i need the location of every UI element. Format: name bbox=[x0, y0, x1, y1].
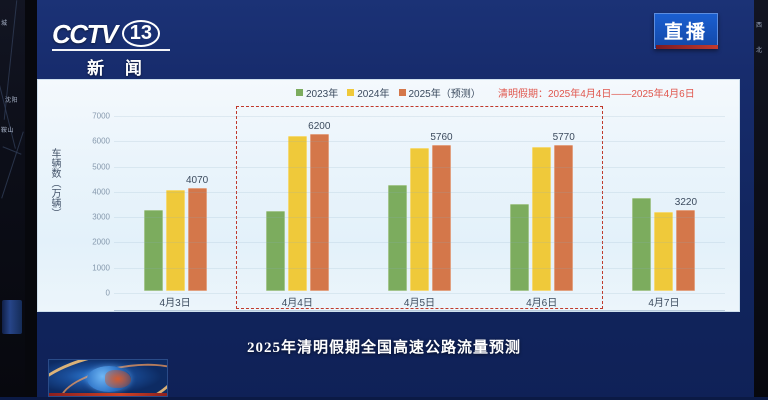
broadcast-screen: 城 沈阳 鞍山 西 北 CCTV 13 新 闻 直播 2023年2024年202… bbox=[0, 0, 768, 400]
bar-4月4日-2023年[interactable] bbox=[266, 211, 285, 291]
bar-group-bars bbox=[358, 108, 480, 291]
bar-4月7日-2023年[interactable] bbox=[632, 198, 651, 291]
bar-4月3日-2025年（预测）[interactable] bbox=[188, 188, 207, 291]
x-axis-tick-label: 4月7日 bbox=[603, 294, 725, 309]
bar-group-4月3日: 4月3日 bbox=[114, 108, 236, 311]
bar-4月3日-2024年[interactable] bbox=[166, 190, 185, 291]
gridline bbox=[114, 242, 725, 243]
bar-4月5日-2023年[interactable] bbox=[388, 185, 407, 291]
gridline bbox=[114, 217, 725, 218]
map-label: 沈阳 bbox=[5, 95, 18, 104]
map-label-right: 西 bbox=[756, 20, 763, 29]
y-axis-tick-label: 4000 bbox=[82, 187, 110, 196]
bar-group-4月6日: 4月6日 bbox=[481, 108, 603, 311]
gridline bbox=[114, 268, 725, 269]
bar-group-bars bbox=[481, 108, 603, 291]
x-axis-tick-label: 4月3日 bbox=[114, 294, 236, 309]
bar-4月6日-2024年[interactable] bbox=[532, 147, 551, 291]
legend-item-3: 2025年（预测） bbox=[399, 85, 481, 100]
chart-panel: 2023年2024年2025年（预测） 清明假期：2025年4月4日——2025… bbox=[37, 79, 740, 312]
x-axis-tick-label: 4月6日 bbox=[481, 294, 603, 309]
cctv-logo: CCTV 13 新 闻 bbox=[52, 20, 177, 78]
landmass-shape bbox=[105, 370, 131, 388]
bar-group-4月5日: 4月5日 bbox=[358, 108, 480, 311]
map-highlight-bar bbox=[2, 300, 22, 334]
bar-4月7日-2025年（预测）[interactable] bbox=[676, 210, 695, 291]
legend-swatch-icon bbox=[399, 89, 406, 96]
legend-label: 2024年 bbox=[357, 85, 389, 100]
y-axis-title: 车辆数（万辆） bbox=[46, 148, 60, 248]
program-headline: 2025年清明假期全国高速公路流量预测 bbox=[0, 336, 768, 357]
chart-legend: 2023年2024年2025年（预测） bbox=[296, 85, 481, 100]
chart-plot-area: 40704月3日62004月4日57604月5日57704月6日32204月7日… bbox=[82, 108, 733, 311]
bar-4月7日-2024年[interactable] bbox=[654, 212, 673, 291]
bar-4月5日-2024年[interactable] bbox=[410, 148, 429, 291]
map-label: 鞍山 bbox=[1, 125, 14, 134]
broadcast-header: CCTV 13 新 闻 直播 bbox=[37, 0, 740, 79]
gridline bbox=[114, 167, 725, 168]
live-badge: 直播 bbox=[654, 13, 718, 49]
bar-group-bars bbox=[603, 108, 725, 291]
gridline bbox=[114, 192, 725, 193]
channel-bumper-graphic bbox=[48, 359, 168, 397]
cctv-channel-number: 13 bbox=[122, 20, 160, 47]
holiday-period-note: 清明假期：2025年4月4日——2025年4月6日 bbox=[498, 85, 695, 100]
x-axis-tick-label: 4月4日 bbox=[236, 294, 358, 309]
legend-swatch-icon bbox=[347, 89, 354, 96]
bar-group-bars bbox=[114, 108, 236, 291]
y-axis-tick-label: 3000 bbox=[82, 213, 110, 222]
bars-area: 40704月3日62004月4日57604月5日57704月6日32204月7日 bbox=[114, 108, 725, 311]
y-axis-tick-label: 5000 bbox=[82, 162, 110, 171]
legend-swatch-icon bbox=[296, 89, 303, 96]
y-axis-tick-label: 6000 bbox=[82, 137, 110, 146]
x-axis-tick-label: 4月5日 bbox=[358, 294, 480, 309]
gridline bbox=[114, 141, 725, 142]
bar-group-4月7日: 4月7日 bbox=[603, 108, 725, 311]
live-badge-underbar bbox=[656, 45, 718, 49]
y-axis-tick-label: 7000 bbox=[82, 112, 110, 121]
cctv-channel-name: 新 闻 bbox=[52, 54, 177, 79]
bar-group-bars bbox=[236, 108, 358, 291]
legend-item-2: 2024年 bbox=[347, 85, 389, 100]
bar-group-4月4日: 4月4日 bbox=[236, 108, 358, 311]
bar-4月3日-2023年[interactable] bbox=[144, 210, 163, 291]
y-axis-tick-label: 0 bbox=[82, 289, 110, 298]
map-label-right: 北 bbox=[756, 45, 763, 54]
cctv-wordmark: CCTV bbox=[52, 21, 117, 47]
legend-label: 2023年 bbox=[306, 85, 338, 100]
cctv-logo-underline bbox=[52, 49, 170, 51]
y-axis-tick-label: 2000 bbox=[82, 238, 110, 247]
gridline bbox=[114, 293, 725, 294]
bumper-red-bar bbox=[49, 393, 168, 396]
legend-label: 2025年（预测） bbox=[409, 85, 481, 100]
legend-item-1: 2023年 bbox=[296, 85, 338, 100]
gridline bbox=[114, 116, 725, 117]
map-label: 城 bbox=[1, 18, 8, 27]
y-axis-tick-label: 1000 bbox=[82, 263, 110, 272]
